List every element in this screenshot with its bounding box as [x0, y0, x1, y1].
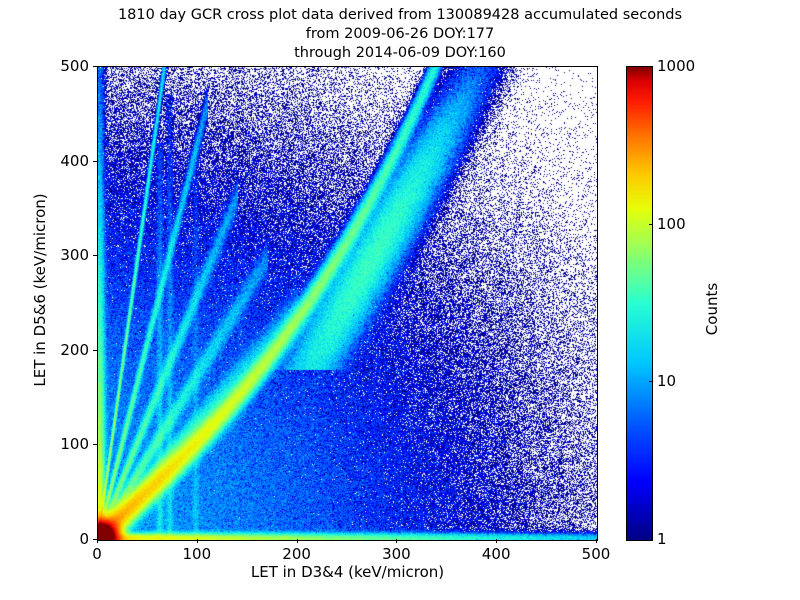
y-tick-mark: [93, 161, 97, 162]
x-tick-label: 300: [382, 545, 411, 563]
x-tick-mark: [596, 539, 597, 543]
colorbar-tick-mark: [649, 224, 653, 225]
x-tick-label: 200: [282, 545, 311, 563]
x-tick-label: 100: [182, 545, 211, 563]
figure-canvas: 1810 day GCR cross plot data derived fro…: [0, 0, 800, 600]
x-tick-mark: [97, 539, 98, 543]
colorbar-tick-label: 1000: [657, 57, 695, 75]
y-tick-label: 500: [33, 57, 89, 75]
x-tick-label: 500: [582, 545, 611, 563]
y-tick-mark: [93, 539, 97, 540]
colorbar-tick-label: 10: [657, 372, 676, 390]
y-tick-mark: [93, 444, 97, 445]
colorbar-tick-label: 1: [657, 530, 667, 548]
x-tick-mark: [297, 539, 298, 543]
y-tick-label: 0: [33, 530, 89, 548]
y-axis-label: LET in D5&6 (keV/micron): [31, 170, 49, 410]
x-tick-mark: [197, 539, 198, 543]
colorbar-tick-label: 100: [657, 215, 686, 233]
y-tick-mark: [93, 66, 97, 67]
y-tick-label: 100: [33, 435, 89, 453]
density-heatmap-canvas: [98, 67, 597, 540]
scatter-density-plot: [97, 66, 598, 541]
colorbar-tick-mark: [649, 381, 653, 382]
title-line-2: from 2009-06-26 DOY:177: [0, 25, 800, 44]
y-tick-mark: [93, 255, 97, 256]
x-tick-mark: [496, 539, 497, 543]
colorbar-label: Counts: [703, 189, 721, 429]
y-tick-mark: [93, 350, 97, 351]
x-axis-label: LET in D3&4 (keV/micron): [97, 563, 598, 581]
colorbar: [626, 66, 653, 541]
x-tick-label: 400: [482, 545, 511, 563]
colorbar-gradient-canvas: [627, 67, 652, 540]
x-tick-label: 0: [92, 545, 102, 563]
x-tick-mark: [396, 539, 397, 543]
y-tick-label: 400: [33, 152, 89, 170]
title-line-1: 1810 day GCR cross plot data derived fro…: [0, 6, 800, 25]
plot-title: 1810 day GCR cross plot data derived fro…: [0, 6, 800, 63]
